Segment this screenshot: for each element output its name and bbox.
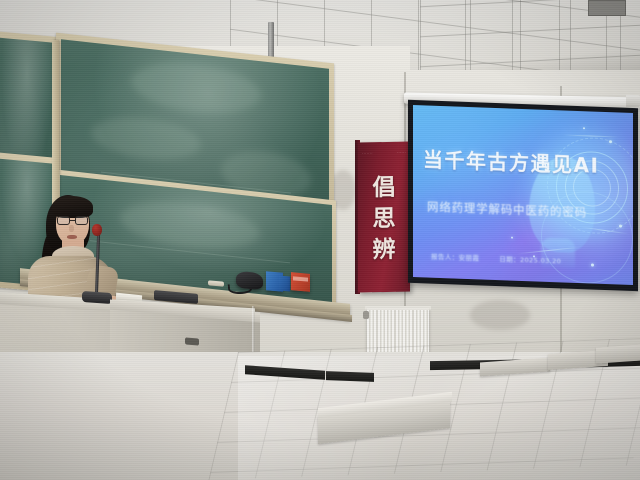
board-smudge-2 xyxy=(91,113,201,165)
board-smudge-1 xyxy=(131,57,261,119)
banner-char-3: 辨 xyxy=(373,238,396,261)
banner-top-marks: ······· ······ xyxy=(362,150,406,159)
blue-box-secondary[interactable] xyxy=(279,276,290,292)
presenter-mouth xyxy=(67,235,77,239)
banner-mark-left: ······· xyxy=(362,150,373,158)
glasses-icon xyxy=(57,216,89,225)
network-node-3 xyxy=(619,225,622,228)
console-lock[interactable] xyxy=(185,337,199,345)
classroom-photo: ······· ······ 倡 思 辨 当千年古方遇见AI 网络药理学解码中 xyxy=(0,0,640,480)
network-node-5 xyxy=(511,237,513,239)
banner-characters: 倡 思 辨 xyxy=(362,176,406,262)
baseboard-mid xyxy=(326,371,374,382)
network-node-2 xyxy=(583,127,585,129)
banner-char-1: 倡 xyxy=(373,176,396,199)
presenter-fringe xyxy=(52,196,93,218)
projection-screen-case-cap xyxy=(626,95,640,107)
microphone-base xyxy=(82,291,112,304)
presenter-nose xyxy=(69,225,74,232)
banner-mark-right: ······ xyxy=(397,150,406,158)
red-box[interactable] xyxy=(291,272,310,292)
microphone-icon[interactable] xyxy=(92,224,102,236)
slide-presenter: 报告人：安丽霞 xyxy=(431,254,479,262)
radiator-valve[interactable] xyxy=(363,311,369,319)
slide-title: 当千年古方遇见AI xyxy=(423,149,623,176)
wall-scuff-2 xyxy=(470,300,530,330)
network-node-1 xyxy=(609,140,612,143)
projection-screen[interactable]: 当千年古方遇见AI 网络药理学解码中医药的密码 报告人：安丽霞 日期：2025.… xyxy=(413,105,633,285)
ceiling-vent xyxy=(588,0,626,16)
banner-char-2: 思 xyxy=(373,207,396,230)
step-riser-right-3 xyxy=(596,344,640,363)
